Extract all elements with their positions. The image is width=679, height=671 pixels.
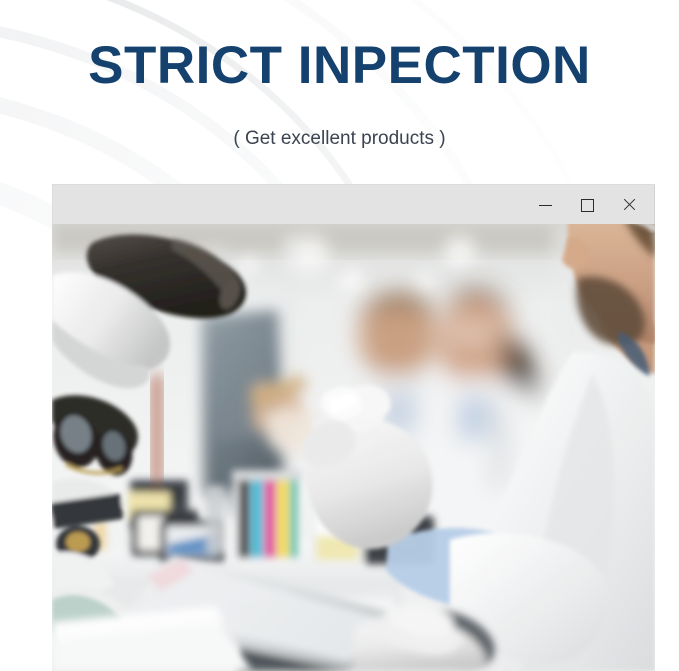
close-button[interactable]	[618, 194, 640, 216]
maximize-icon	[581, 199, 594, 212]
lab-inspection-photo-graphic	[52, 224, 655, 671]
window-frame	[52, 184, 655, 671]
window-title-bar	[52, 184, 655, 224]
close-icon	[622, 198, 637, 213]
page-title: STRICT INPECTION	[0, 38, 679, 94]
minimize-icon	[539, 205, 552, 206]
lab-inspection-photo	[52, 224, 655, 671]
product-banner: STRICT INPECTION ( Get excellent product…	[0, 0, 679, 671]
minimize-button[interactable]	[534, 194, 556, 216]
window-controls	[534, 185, 640, 225]
maximize-button[interactable]	[576, 194, 598, 216]
page-subtitle: ( Get excellent products )	[0, 127, 679, 151]
